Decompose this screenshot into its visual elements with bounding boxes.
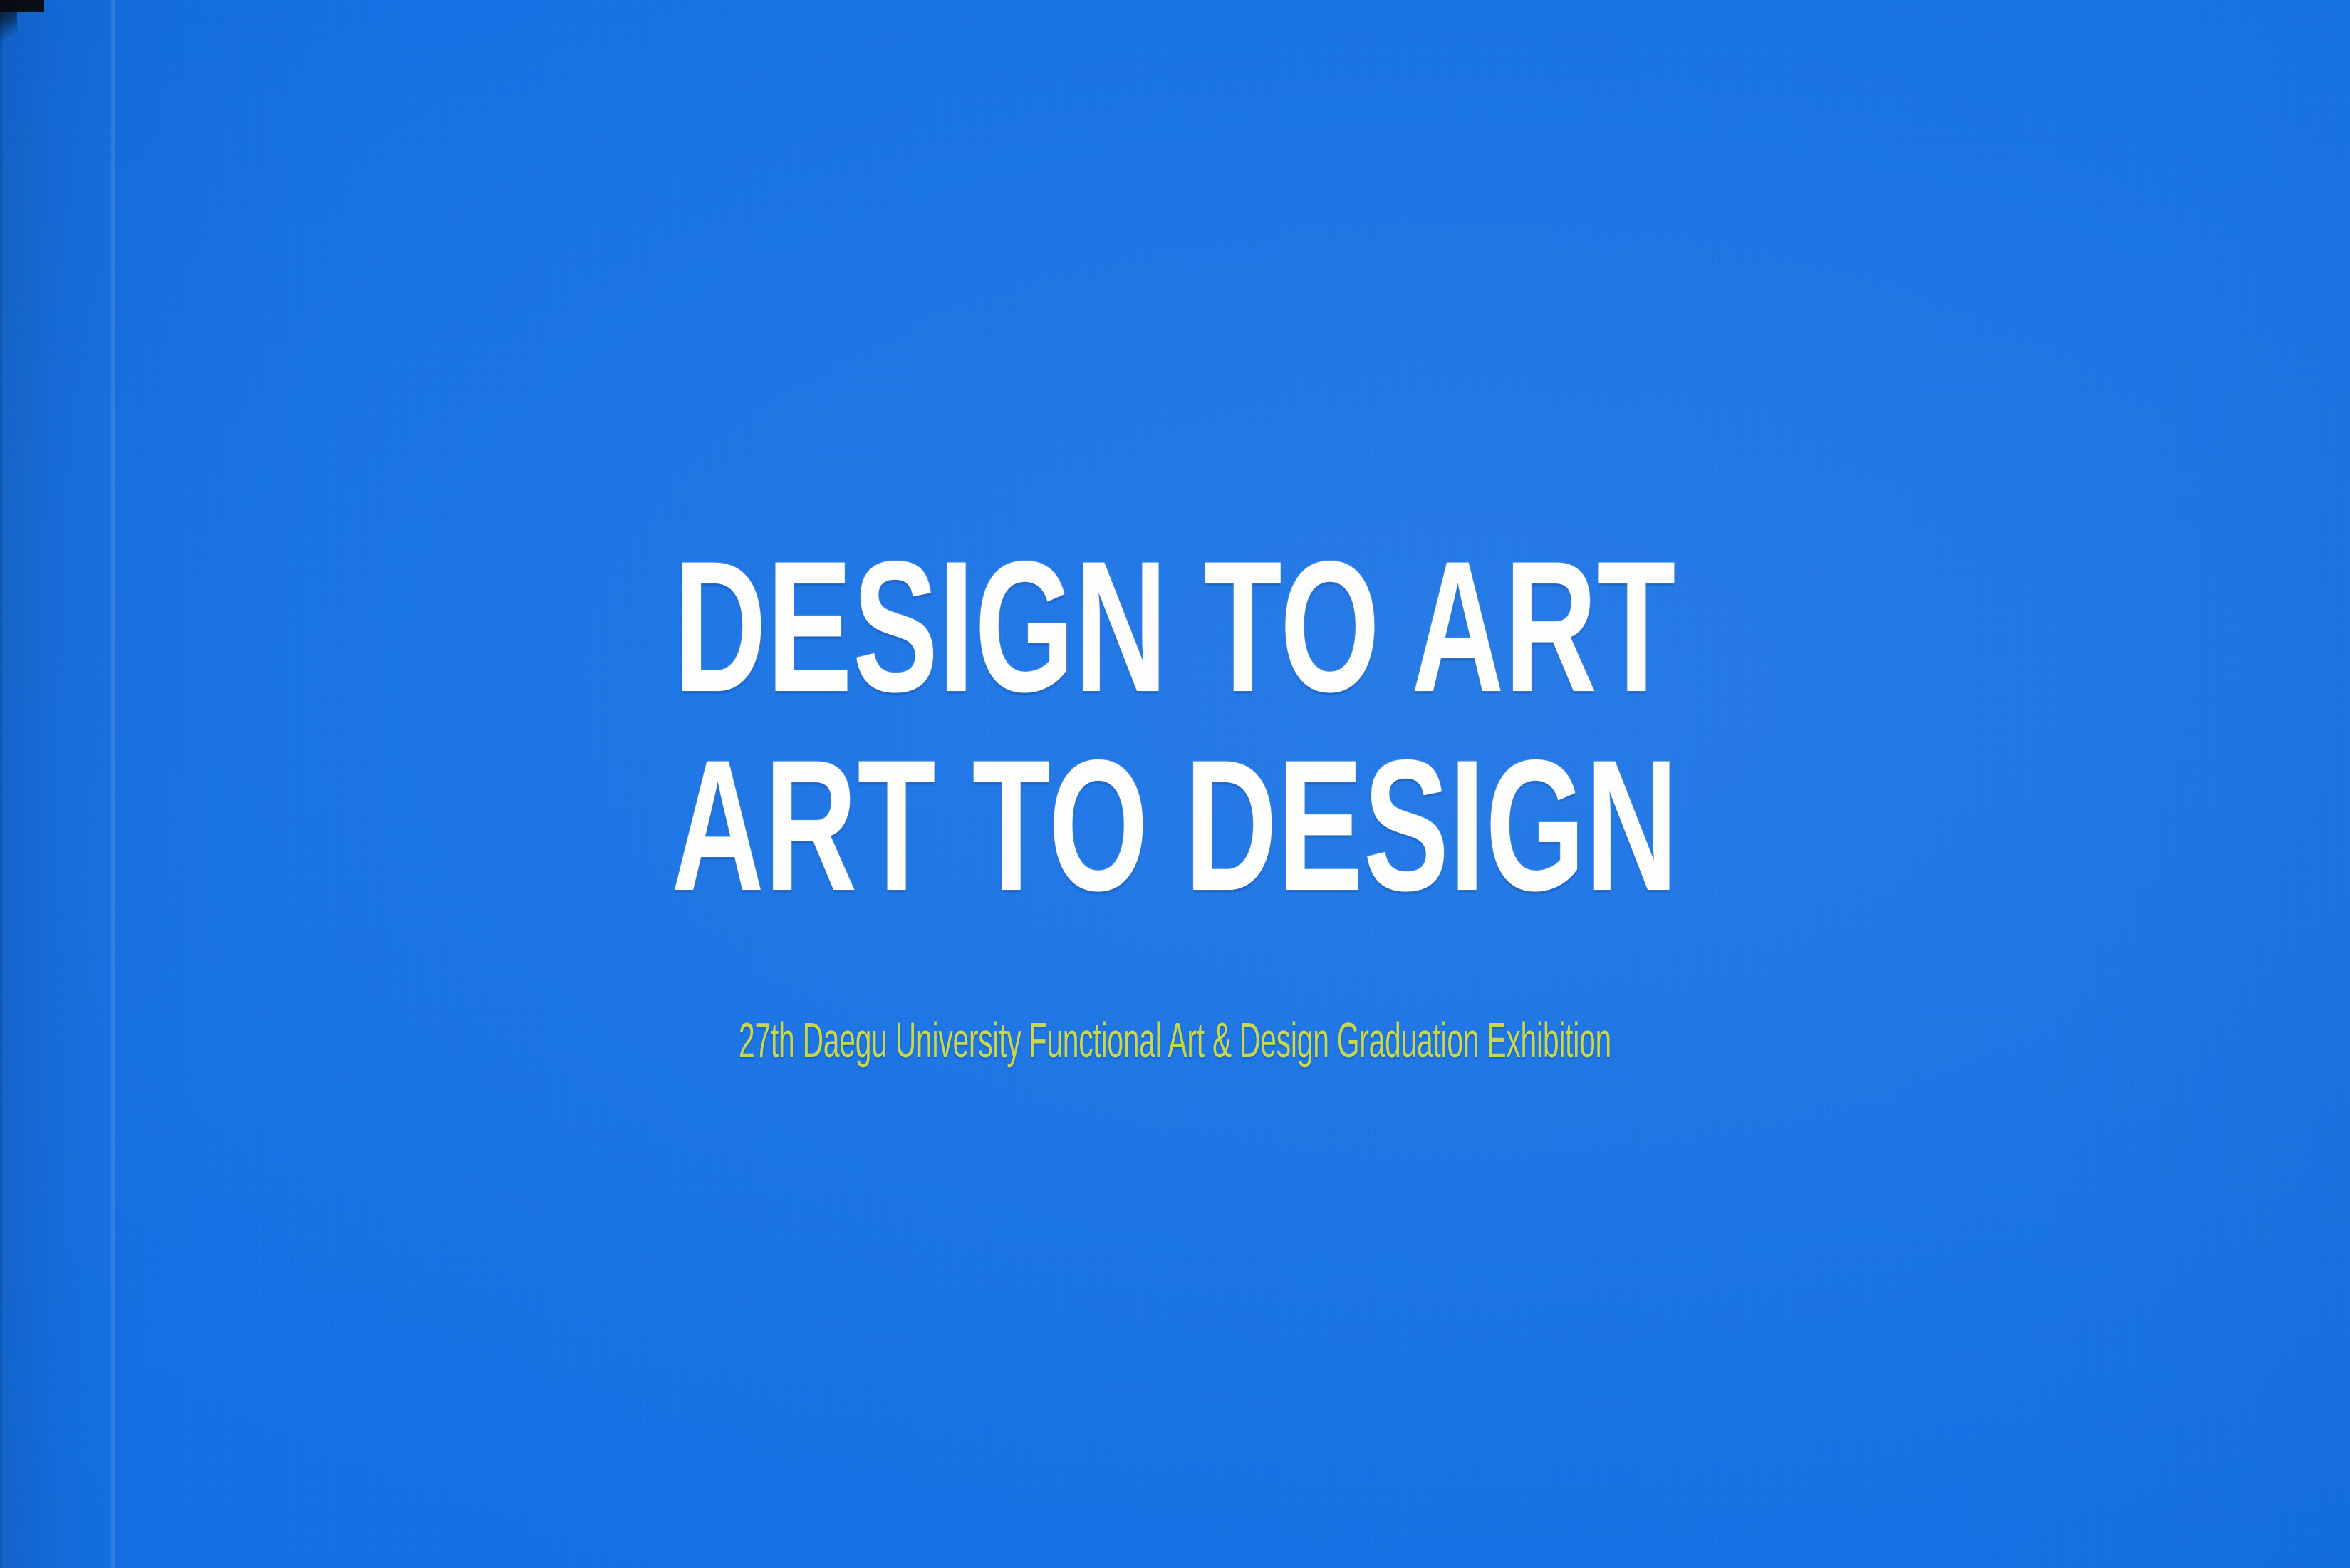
scan-corner-artifact [0,0,44,12]
cover-title-line-1: DESIGN TO ART [369,536,1981,719]
exhibition-catalog-cover: DESIGN TO ART ART TO DESIGN 27th Daegu U… [0,0,2350,1568]
cover-title-block: DESIGN TO ART ART TO DESIGN [0,536,2350,918]
cover-title-line-2: ART TO DESIGN [369,734,1981,918]
cover-subtitle: 27th Daegu University Functional Art & D… [490,1012,1860,1069]
